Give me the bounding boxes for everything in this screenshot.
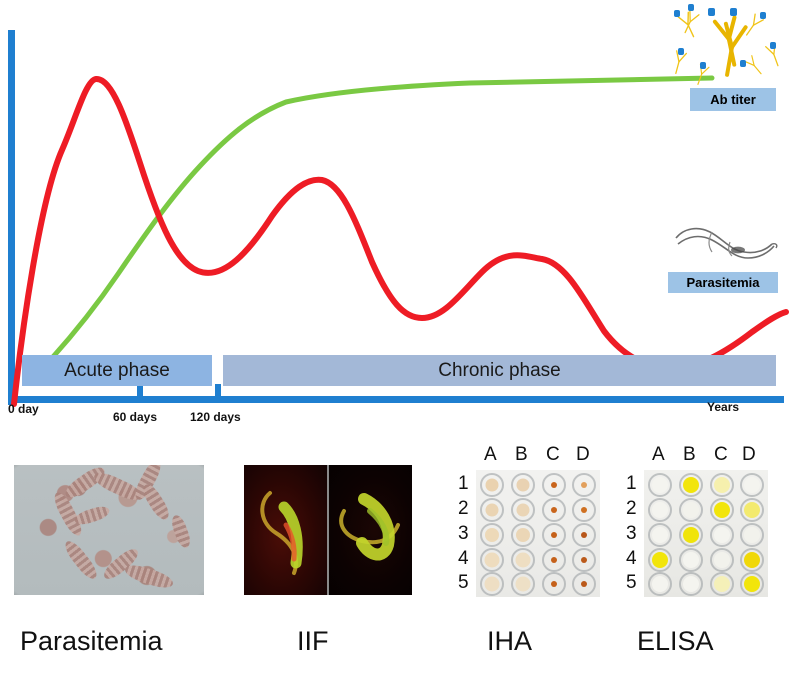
iha-col-label-a: A bbox=[484, 444, 497, 466]
elisa-well-a4 bbox=[648, 548, 672, 572]
elisa-well-negative bbox=[652, 502, 668, 518]
elisa-well-negative bbox=[683, 552, 699, 568]
elisa-row-label-3: 3 bbox=[626, 523, 637, 545]
elisa-well-negative bbox=[652, 527, 668, 543]
elisa-well-a3 bbox=[648, 523, 672, 547]
iha-well-button bbox=[581, 482, 587, 488]
elisa-well-negative bbox=[652, 576, 668, 592]
ab-titer-label: Ab titer bbox=[710, 92, 756, 107]
elisa-well-positive bbox=[744, 552, 760, 568]
fluorescent-trypomastigote-right bbox=[334, 481, 410, 581]
kinetics-chart: Acute phase Chronic phase 0 day 60 days … bbox=[0, 0, 794, 430]
panel-caption-iif: IIF bbox=[297, 626, 329, 657]
ab-titer-curve bbox=[52, 78, 712, 358]
elisa-well-a1 bbox=[648, 473, 672, 497]
elisa-row-label-2: 2 bbox=[626, 498, 637, 520]
iha-well-button bbox=[581, 507, 587, 513]
panel-caption-iha: IHA bbox=[487, 626, 532, 657]
elisa-well-weak bbox=[714, 576, 730, 592]
iha-well-b5 bbox=[511, 572, 535, 596]
iha-well-diffuse bbox=[516, 577, 531, 592]
iif-photo bbox=[244, 465, 412, 595]
tick-mark-120days bbox=[215, 384, 221, 398]
tick-mark-60days bbox=[137, 384, 143, 398]
iha-well-a2 bbox=[480, 498, 504, 522]
elisa-well-positive bbox=[714, 502, 730, 518]
iha-well-b4 bbox=[511, 548, 535, 572]
iha-well-diffuse bbox=[486, 504, 499, 517]
iha-col-label-c: C bbox=[546, 444, 560, 466]
axis-tick-120days: 120 days bbox=[190, 410, 241, 424]
iha-well-button bbox=[581, 557, 587, 563]
elisa-well-b2 bbox=[679, 498, 703, 522]
fluorescent-trypomastigote-left bbox=[250, 479, 324, 583]
elisa-well-d4 bbox=[740, 548, 764, 572]
iha-well-a3 bbox=[480, 523, 504, 547]
elisa-well-negative bbox=[744, 527, 760, 543]
axis-tick-0day: 0 day bbox=[8, 402, 39, 416]
iha-well-d2 bbox=[572, 498, 596, 522]
chagas-diagnostics-figure: Acute phase Chronic phase 0 day 60 days … bbox=[0, 0, 794, 683]
iha-row-label-4: 4 bbox=[458, 548, 469, 570]
iha-col-label-b: B bbox=[515, 444, 528, 466]
elisa-well-negative bbox=[714, 552, 730, 568]
chronic-phase-label: Chronic phase bbox=[438, 360, 561, 382]
elisa-plate: A B C D 1 2 3 4 5 bbox=[644, 470, 768, 597]
elisa-row-label-1: 1 bbox=[626, 473, 637, 495]
iha-row-label-2: 2 bbox=[458, 498, 469, 520]
iha-well-button bbox=[551, 557, 557, 563]
elisa-well-negative bbox=[652, 477, 668, 493]
elisa-well-d2 bbox=[740, 498, 764, 522]
elisa-well-c5 bbox=[710, 572, 734, 596]
elisa-well-c1 bbox=[710, 473, 734, 497]
iha-col-label-d: D bbox=[576, 444, 590, 466]
iha-well-d1 bbox=[572, 473, 596, 497]
elisa-well-positive bbox=[744, 576, 760, 592]
rbc-chain bbox=[61, 538, 100, 583]
iha-well-c3 bbox=[542, 523, 566, 547]
panel-caption-parasitemia: Parasitemia bbox=[20, 626, 163, 657]
iha-row-label-5: 5 bbox=[458, 572, 469, 594]
elisa-well-weak bbox=[714, 477, 730, 493]
acute-phase-bar: Acute phase bbox=[22, 355, 212, 386]
iha-row-label-1: 1 bbox=[458, 473, 469, 495]
elisa-well-d5 bbox=[740, 572, 764, 596]
y-axis bbox=[8, 30, 15, 405]
blood-smear-field bbox=[14, 465, 204, 595]
elisa-well-d1 bbox=[740, 473, 764, 497]
elisa-row-label-5: 5 bbox=[626, 572, 637, 594]
iha-well-diffuse bbox=[486, 479, 499, 492]
elisa-well-positive bbox=[683, 477, 699, 493]
trypanosome-icon bbox=[668, 222, 780, 270]
elisa-well-d3 bbox=[740, 523, 764, 547]
diagnostic-panels: A B C D 1 2 3 4 5 bbox=[0, 430, 794, 683]
elisa-well-b5 bbox=[679, 572, 703, 596]
axis-tick-60days: 60 days bbox=[113, 410, 157, 424]
iha-row-label-3: 3 bbox=[458, 523, 469, 545]
iha-well-c2 bbox=[542, 498, 566, 522]
iha-well-d4 bbox=[572, 548, 596, 572]
acute-phase-label: Acute phase bbox=[64, 360, 170, 382]
iha-well-button bbox=[551, 532, 557, 538]
chronic-phase-bar: Chronic phase bbox=[223, 355, 776, 386]
iha-well-a5 bbox=[480, 572, 504, 596]
iha-well-diffuse bbox=[516, 528, 530, 542]
parasitemia-label: Parasitemia bbox=[687, 275, 760, 290]
iha-well-d3 bbox=[572, 523, 596, 547]
iha-well-b1 bbox=[511, 473, 535, 497]
antibody-cluster-icon bbox=[672, 2, 790, 88]
elisa-well-positive bbox=[683, 527, 699, 543]
elisa-well-positive bbox=[652, 552, 668, 568]
iha-well-a1 bbox=[480, 473, 504, 497]
elisa-well-b4 bbox=[679, 548, 703, 572]
parasitemia-legend-chip: Parasitemia bbox=[668, 272, 778, 293]
ab-titer-legend-chip: Ab titer bbox=[690, 88, 776, 111]
elisa-col-label-b: B bbox=[683, 444, 696, 466]
elisa-col-label-d: D bbox=[742, 444, 756, 466]
rbc-chain bbox=[169, 513, 193, 549]
axis-tick-years: Years bbox=[707, 400, 739, 414]
iha-well-button bbox=[551, 507, 557, 513]
iha-well-b3 bbox=[511, 523, 535, 547]
rbc-chain bbox=[139, 481, 172, 522]
iha-well-diffuse bbox=[485, 528, 499, 542]
elisa-well-weak bbox=[744, 502, 760, 518]
blood-smear-photo bbox=[14, 465, 204, 595]
elisa-well-negative bbox=[714, 527, 730, 543]
iha-well-b2 bbox=[511, 498, 535, 522]
iha-well-c4 bbox=[542, 548, 566, 572]
iha-well-button bbox=[581, 532, 587, 538]
iha-well-diffuse bbox=[517, 479, 530, 492]
iha-well-c1 bbox=[542, 473, 566, 497]
iha-well-button bbox=[581, 581, 587, 587]
iha-well-diffuse bbox=[516, 553, 531, 568]
elisa-row-label-4: 4 bbox=[626, 548, 637, 570]
elisa-well-negative bbox=[744, 477, 760, 493]
elisa-well-b3 bbox=[679, 523, 703, 547]
iha-well-diffuse bbox=[517, 504, 530, 517]
iha-well-c5 bbox=[542, 572, 566, 596]
rbc-chain bbox=[73, 504, 111, 527]
iha-well-diffuse bbox=[485, 577, 500, 592]
iha-well-d5 bbox=[572, 572, 596, 596]
elisa-well-negative bbox=[683, 502, 699, 518]
panel-caption-elisa: ELISA bbox=[637, 626, 714, 657]
elisa-well-negative bbox=[683, 576, 699, 592]
elisa-col-label-a: A bbox=[652, 444, 665, 466]
elisa-well-b1 bbox=[679, 473, 703, 497]
elisa-well-c2 bbox=[710, 498, 734, 522]
iha-well-button bbox=[551, 581, 557, 587]
elisa-col-label-c: C bbox=[714, 444, 728, 466]
rbc-chain bbox=[123, 562, 175, 592]
elisa-well-a5 bbox=[648, 572, 672, 596]
elisa-well-c3 bbox=[710, 523, 734, 547]
elisa-well-a2 bbox=[648, 498, 672, 522]
iif-panel-divider bbox=[327, 465, 329, 595]
iha-well-button bbox=[551, 482, 557, 488]
elisa-well-c4 bbox=[710, 548, 734, 572]
x-axis bbox=[8, 396, 784, 403]
iha-well-a4 bbox=[480, 548, 504, 572]
iha-plate: A B C D 1 2 3 4 5 bbox=[476, 470, 600, 597]
iha-well-diffuse bbox=[485, 553, 500, 568]
